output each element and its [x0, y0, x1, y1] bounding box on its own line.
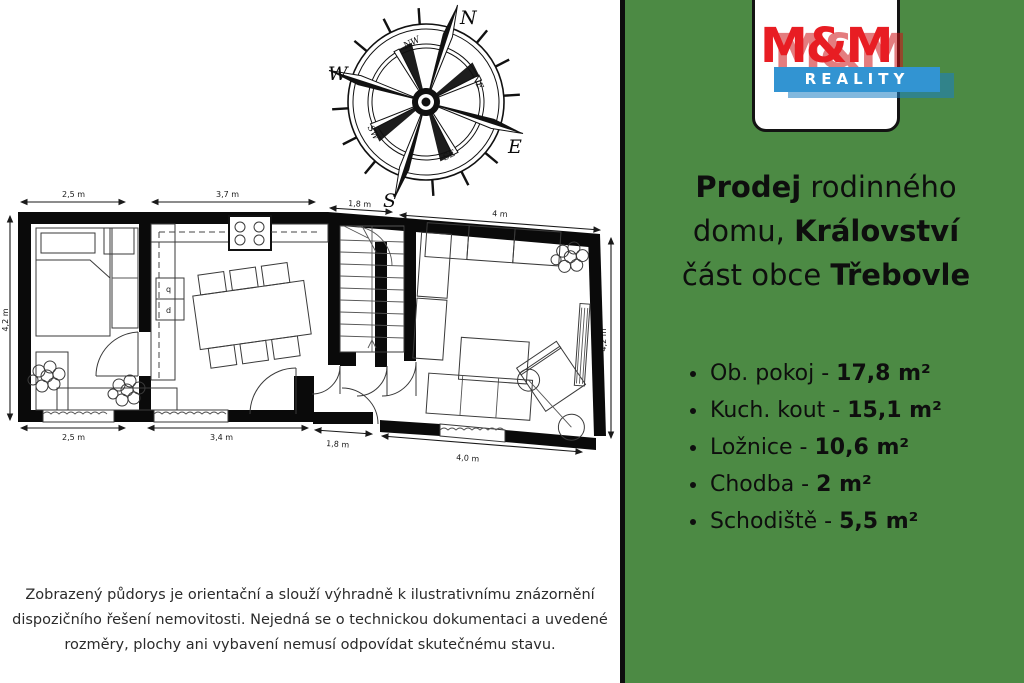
logo-sub-text: REALITY [774, 67, 940, 92]
dim-bottom-right: 4,0 m [456, 453, 480, 464]
dim-top-stair: 1,8 m [348, 199, 372, 209]
appliance-label-lower: d [166, 306, 171, 315]
dim-bottom-stair: 1,8 m [326, 439, 350, 450]
headline-bold-prodej: Prodej [695, 170, 801, 204]
listing-graphic: NW NE SE SW N E S W .wall{fill:#0a0a0a;}… [0, 0, 1024, 683]
logo-brand-text: M&M [760, 22, 891, 70]
room-area-list: Ob. pokoj - 17,8 m² Kuch. kout - 15,1 m²… [688, 355, 1008, 540]
list-item: Chodba - 2 m² [688, 466, 1008, 503]
room-name: Ob. pokoj - [710, 361, 836, 386]
list-item: Schodiště - 5,5 m² [688, 503, 1008, 540]
room-area: 15,1 m² [847, 398, 942, 423]
list-item: Kuch. kout - 15,1 m² [688, 392, 1008, 429]
mm-reality-logo[interactable]: M&M REALITY M&M REALITY [760, 22, 960, 102]
headline-bold-kralovstvi: Království [794, 214, 959, 248]
compass-label-e: E [507, 136, 522, 158]
room-name: Schodiště - [710, 509, 839, 534]
dim-top-mid: 3,7 m [216, 190, 239, 199]
room-area: 5,5 m² [839, 509, 918, 534]
disclaimer-text: Zobrazený půdorys je orientační a slouží… [10, 583, 610, 658]
dim-bottom-mid: 3,4 m [210, 433, 233, 442]
headline-rest-1: rodinného [801, 170, 956, 204]
compass-rose: NW NE SE SW N E S W [322, 2, 530, 207]
headline-rest-3: část obce [682, 258, 831, 292]
dim-left-height: 4,2 m [1, 308, 10, 331]
room-name: Chodba - [710, 472, 816, 497]
dim-bottom-left: 2,5 m [62, 433, 85, 442]
compass-label-n: N [459, 7, 478, 29]
floor-plan-drawing: .wall{fill:#0a0a0a;} .thin{fill:none;str… [0, 180, 620, 480]
headline-rest-2: domu, [693, 214, 794, 248]
appliance-label-upper: q [166, 285, 171, 294]
listing-headline: Prodej rodinného domu, Království část o… [633, 165, 1019, 297]
room-area: 17,8 m² [836, 361, 931, 386]
room-name: Kuch. kout - [710, 398, 847, 423]
headline-bold-trebovle: Třebovle [830, 258, 970, 292]
room-area: 2 m² [816, 472, 872, 497]
floorplan-panel: NW NE SE SW N E S W .wall{fill:#0a0a0a;}… [0, 0, 620, 683]
logo-copy-front: M&M REALITY [760, 22, 945, 100]
dim-top-right: 4 m [492, 209, 508, 219]
dim-top-left: 2,5 m [62, 190, 85, 199]
list-item: Ob. pokoj - 17,8 m² [688, 355, 1008, 392]
list-item: Ložnice - 10,6 m² [688, 429, 1008, 466]
room-area: 10,6 m² [815, 435, 910, 460]
compass-label-w: W [328, 63, 349, 85]
room-name: Ložnice - [710, 435, 815, 460]
